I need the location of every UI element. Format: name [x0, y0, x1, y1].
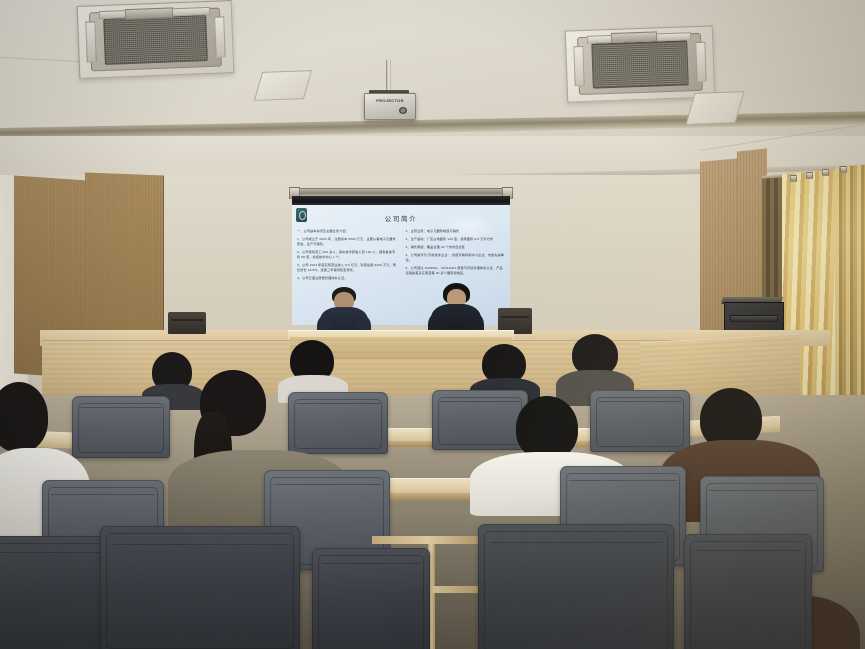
conference-room-photo: PROJECTOR 公司简介 一、公司基本情况及主要业务介绍： 1、公司成立于 … [0, 0, 865, 649]
chair-back-row-1[interactable] [72, 396, 170, 458]
curtain-hook [806, 172, 813, 179]
stacking-chair-left[interactable] [168, 312, 206, 334]
curtain-hook [840, 166, 847, 173]
slide-right-item-4: 4、公司被评为"高新技术企业"、省级专精特新中小企业、市级先进单位。 [406, 253, 506, 263]
chair-foreground-2[interactable] [100, 526, 300, 649]
slide-right-item-5: 5、公司通过 ISO9001、ISO14001 质量与环境管理体系认证，产品远销… [406, 266, 506, 276]
chair-back-row-2[interactable] [288, 392, 388, 454]
ceiling-access-panel-left [254, 70, 312, 101]
screen-top-black-bar [292, 196, 510, 205]
slide-left-item-3: 3、公司 2023 年度实现营业收入 8.6 亿元，利润总额 9200 万元，同… [297, 263, 397, 273]
slide-right-item-3: 3、销售网络：覆盖全国 30 个省市自治区 [406, 245, 506, 250]
slide-right-item-2: 2、生产基地：厂区占地面积 120 亩，建筑面积 6.8 万平方米 [406, 237, 506, 242]
desk-rail-center [372, 536, 482, 544]
projector-label: PROJECTOR [365, 98, 415, 103]
ceiling-projector: PROJECTOR [364, 93, 416, 120]
slide-left-item-4: 4、公司已通过质量管理体系认证。 [297, 276, 397, 281]
chair-back-row-3[interactable] [432, 390, 528, 450]
chair-foreground-5[interactable] [684, 534, 812, 649]
curtain-hook [822, 169, 829, 176]
slide-right-item-1: 1、主营业务：电子元器件制造与销售 [406, 229, 506, 234]
chair-foreground-4[interactable] [478, 524, 674, 649]
curtain-right-edge[interactable] [835, 165, 865, 412]
ceiling-access-panel-right [685, 91, 744, 125]
projector-lens [399, 107, 407, 114]
projector-pole [386, 60, 391, 93]
curtain-hook [790, 175, 797, 182]
chair-foreground-3[interactable] [312, 548, 430, 649]
ceiling-ac-unit-right [565, 25, 715, 102]
slide-left-heading: 一、公司基本情况及主要业务介绍： [297, 229, 397, 234]
slide-left-item-2: 2、公司现有员工 600 余人，其中技术研发人员 120 人，拥有各类专利 58… [297, 250, 397, 260]
slide-left-item-1: 1、公司成立于 2003 年，注册资本 5000 万元，主要从事电子元器件研发、… [297, 237, 397, 247]
chair-back-row-4[interactable] [590, 390, 690, 452]
ceiling-ac-unit-left [77, 0, 235, 79]
